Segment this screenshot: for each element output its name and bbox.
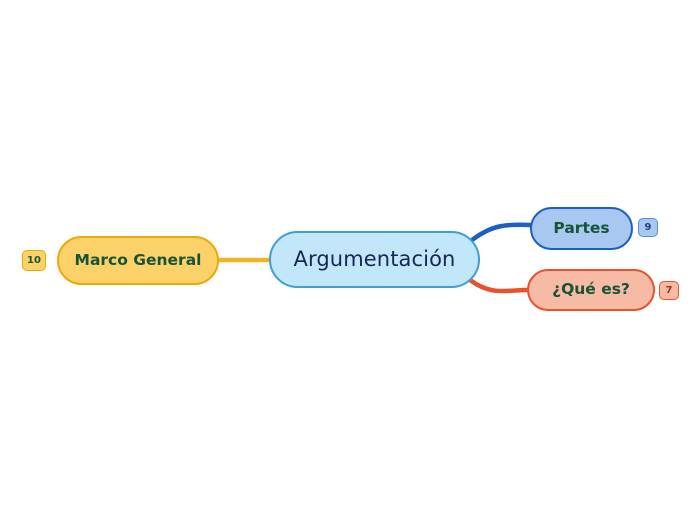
mindmap-canvas: Argumentación 10 Marco General Partes 9 …	[0, 0, 696, 520]
node-badge-partes[interactable]: 9	[638, 218, 658, 237]
node-label-que-es: ¿Qué es?	[552, 282, 630, 298]
node-label-root: Argumentación	[294, 249, 456, 270]
mindmap-node-partes[interactable]: Partes	[530, 207, 633, 250]
node-label-marco-general: Marco General	[75, 253, 202, 269]
node-badge-que-es[interactable]: 7	[659, 281, 679, 300]
node-label-partes: Partes	[553, 221, 609, 237]
mindmap-node-root[interactable]: Argumentación	[269, 231, 480, 288]
node-badge-marco-general[interactable]: 10	[22, 250, 46, 271]
mindmap-node-que-es[interactable]: ¿Qué es?	[527, 269, 655, 311]
connector-partes	[472, 225, 531, 240]
mindmap-node-marco-general[interactable]: Marco General	[57, 236, 219, 285]
connector-que-es	[470, 280, 528, 291]
